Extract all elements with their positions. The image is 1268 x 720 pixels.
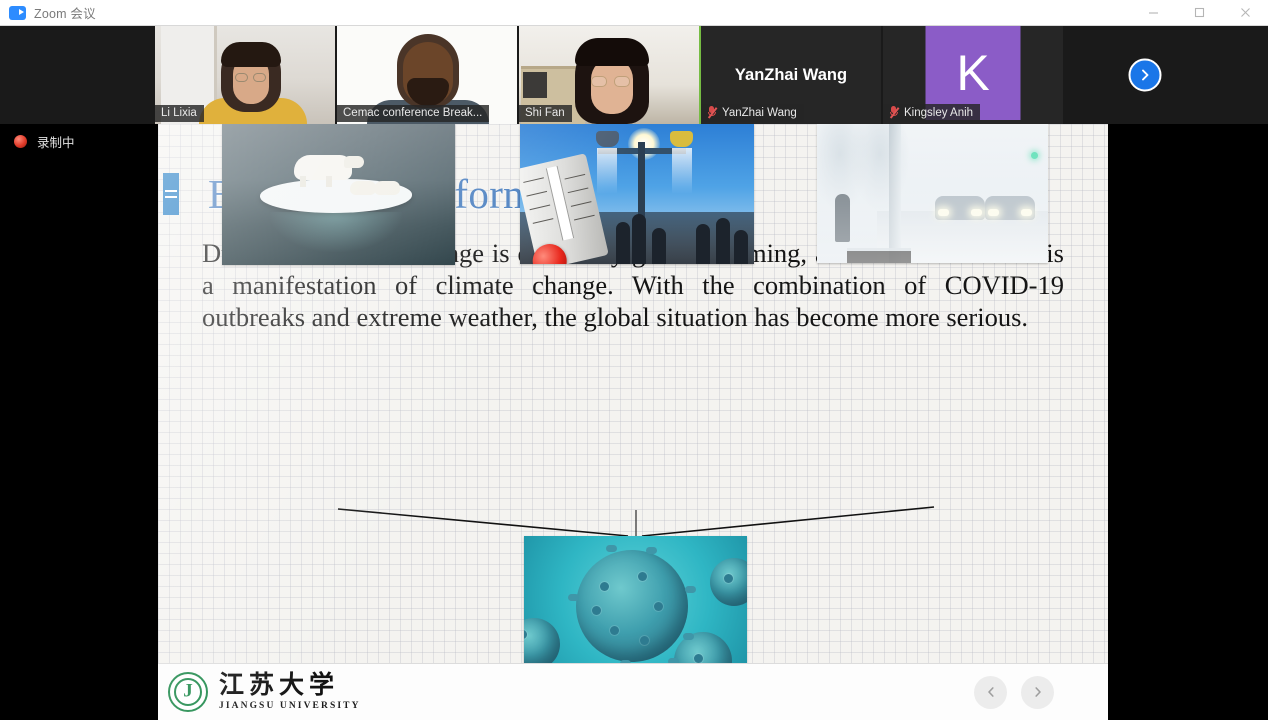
slide-navigation — [974, 676, 1054, 709]
microphone-muted-icon — [889, 106, 899, 119]
participant-tile-yanzhai-wang[interactable]: YanZhai Wang YanZhai Wang — [701, 26, 883, 124]
close-icon[interactable] — [1222, 0, 1268, 26]
record-dot-icon — [14, 135, 27, 148]
participant-display-name-text: YanZhai Wang — [735, 66, 847, 85]
logo-english-name: JIANGSU UNIVERSITY — [219, 701, 361, 711]
logo-text: 江苏大学 JIANGSU UNIVERSITY — [219, 673, 361, 710]
participant-tile-shi-fan[interactable]: Shi Fan — [519, 26, 701, 124]
chevron-right-icon[interactable] — [1021, 676, 1054, 709]
recording-label: 录制中 — [37, 132, 75, 151]
chevron-right-icon[interactable] — [1129, 59, 1162, 92]
participant-name-label: YanZhai Wang — [701, 104, 804, 122]
participant-filmstrip: Li Lixia Cemac conference Break... — [0, 26, 1268, 124]
filmstrip-left-spacer — [0, 26, 155, 124]
participant-tile-cemac-conference[interactable]: Cemac conference Break... — [337, 26, 519, 124]
image-heat-wave — [520, 124, 754, 264]
jiangsu-university-seal-icon: J — [168, 672, 208, 712]
title-bullet-icon — [163, 173, 179, 215]
filmstrip-next-pane — [1065, 26, 1225, 124]
slide-footer: J 江苏大学 JIANGSU UNIVERSITY — [158, 663, 1108, 720]
participant-name-text: Cemac conference Break... — [343, 107, 482, 119]
avatar-letter: K — [956, 48, 989, 98]
zoom-camera-icon — [9, 6, 26, 20]
participant-name-label: Shi Fan — [519, 105, 572, 122]
logo-chinese-name: 江苏大学 — [219, 673, 361, 699]
participant-tile-kingsley-anih[interactable]: K Kingsley Anih — [883, 26, 1065, 124]
slide-image-row — [158, 368, 1108, 510]
zoom-meeting-window: Zoom 会议 — [0, 0, 1268, 720]
chevron-left-icon[interactable] — [974, 676, 1007, 709]
minimize-icon[interactable] — [1130, 0, 1176, 26]
title-bar: Zoom 会议 — [0, 0, 1268, 26]
participant-name-text: Shi Fan — [525, 107, 565, 119]
participant-name-text: Kingsley Anih — [904, 107, 973, 119]
presentation-slide: Background information Due to the climat… — [158, 124, 1108, 720]
recording-indicator[interactable]: 录制中 — [14, 132, 75, 151]
participant-tile-li-lixia[interactable]: Li Lixia — [155, 26, 337, 124]
window-title: Zoom 会议 — [34, 3, 96, 22]
maximize-icon[interactable] — [1176, 0, 1222, 26]
window-controls — [1130, 0, 1268, 26]
image-coronavirus — [524, 536, 747, 671]
image-polar-bears — [222, 124, 455, 265]
left-rail: 录制中 — [0, 124, 155, 720]
filmstrip-right-spacer — [1225, 26, 1268, 124]
participant-name-label: Kingsley Anih — [883, 104, 980, 122]
microphone-muted-icon — [707, 106, 717, 119]
participant-tiles: Li Lixia Cemac conference Break... — [155, 26, 1065, 124]
participant-name-text: YanZhai Wang — [722, 107, 797, 119]
jiangsu-university-logo: J 江苏大学 JIANGSU UNIVERSITY — [168, 672, 361, 712]
participant-name-label: Li Lixia — [155, 105, 204, 122]
shared-screen-stage: Background information Due to the climat… — [155, 124, 1108, 720]
image-blizzard — [817, 124, 1048, 263]
participant-name-text: Li Lixia — [161, 107, 197, 119]
participant-name-label: Cemac conference Break... — [337, 105, 489, 122]
